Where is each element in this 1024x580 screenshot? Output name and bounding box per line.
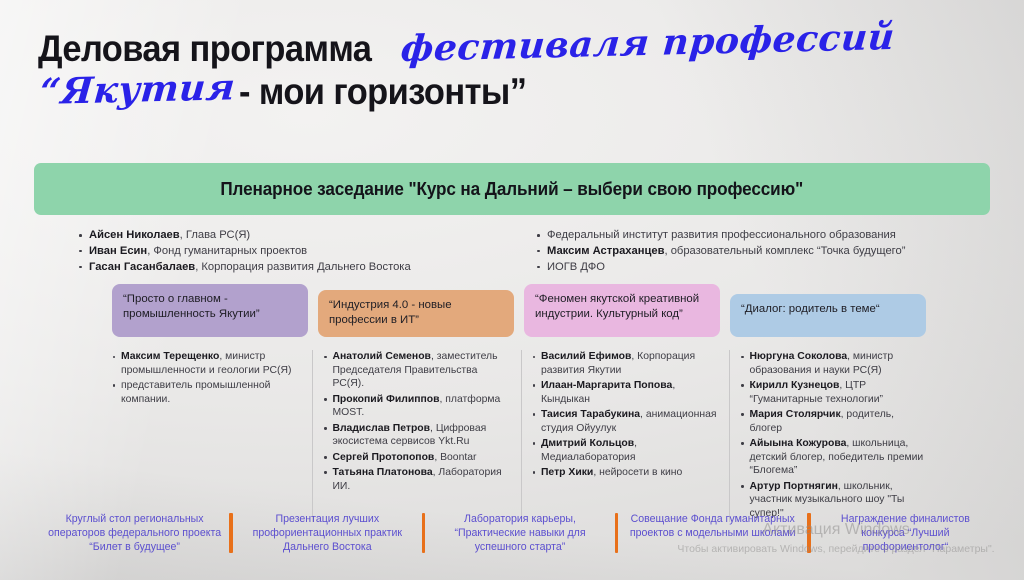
speaker-name: Татьяна Платонова (332, 467, 432, 478)
plenary-heading: Пленарное заседание "Курс на Дальний – в… (221, 179, 804, 200)
list-item: Владислав Петров, Цифровая экосистема се… (323, 422, 509, 449)
list-item: Иван Есин, Фонд гуманитарных проектов (78, 244, 508, 259)
section-box-parent-dialog: “Диалог: родитель в теме“ (730, 294, 926, 337)
section-headers: “Просто о главном - промышленность Якути… (112, 284, 930, 337)
list-item: Максим Терещенко, министр промышленности… (112, 350, 300, 377)
title-script-part-2: “Якутия (39, 69, 237, 110)
speaker-name: Илаан-Маргарита Попова (541, 380, 672, 391)
section-box-creative-industry: “Феномен якутской креативной индустрии. … (524, 284, 720, 337)
speaker-name: Василий Ефимов (541, 351, 631, 362)
speaker-name: Гасан Гасанбалаев (89, 261, 195, 273)
speaker-name: Максим Астраханцев (547, 245, 664, 257)
title-line-2: “Якутия - мои горизонты” (40, 73, 998, 110)
list-item: Прокопий Филиппов, платформа MOST. (323, 393, 509, 420)
speaker-column-3: Василий Ефимов, Корпорация развития Якут… (521, 350, 722, 522)
speaker-name: Артур Портнягин (749, 481, 837, 492)
speaker-name: Владислав Петров (332, 423, 430, 434)
list-item: Гасан Гасанбалаев, Корпорация развития Д… (78, 260, 508, 275)
section-box-industry-4-0: “Индустрия 4.0 - новые профессии в ИТ” (318, 290, 514, 337)
presentation-slide: Деловая программа фестиваля профессий “Я… (0, 0, 1024, 580)
speaker-name: Кирилл Кузнецов (749, 380, 839, 391)
section-box-industry-yakutia: “Просто о главном - промышленность Якути… (112, 284, 308, 337)
footer-item-presentation: Презентация лучших профориентационных пр… (233, 512, 422, 555)
list-item: Дмитрий Кольцов, Медиалаборатория (532, 437, 718, 464)
speaker-column-2: Анатолий Семенов, заместитель Председате… (312, 350, 513, 522)
speaker-role: , нейросети в кино (593, 467, 682, 478)
speaker-role: , Фонд гуманитарных проектов (147, 245, 307, 257)
speaker-name: Иван Есин (89, 245, 147, 257)
list-item: Максим Астраханцев, образовательный комп… (536, 244, 990, 259)
list-item: Федеральный институт развития профессион… (536, 228, 990, 243)
title-black-part-2: - мои горизонты” (239, 73, 526, 110)
list-item: Василий Ефимов, Корпорация развития Якут… (532, 350, 718, 377)
footer-item-award-ceremony: Награждение финалистов конкурса “Лучший … (811, 512, 1000, 555)
speaker-role: Федеральный институт развития профессион… (547, 229, 896, 241)
speaker-name: Айсен Николаев (89, 229, 180, 241)
speaker-role: представитель промышленной компании. (121, 380, 270, 405)
speaker-name: Таисия Тарабукина (541, 409, 640, 420)
footer-item-foundation-meeting: Совещание Фонда гуманитарных проектов с … (618, 512, 807, 540)
speaker-name: Максим Терещенко (121, 351, 219, 362)
speaker-name: Дмитрий Кольцов (541, 438, 634, 449)
footer-events: Круглый стол региональных операторов фед… (40, 512, 1000, 555)
speaker-role: , Boontar (434, 452, 476, 463)
speaker-role: , Глава РС(Я) (180, 229, 251, 241)
speaker-name: Петр Хики (541, 467, 593, 478)
speaker-role: ИОГВ ДФО (547, 261, 605, 273)
plenary-speakers: Айсен Николаев, Глава РС(Я) Иван Есин, Ф… (78, 228, 990, 276)
list-item: Анатолий Семенов, заместитель Председате… (323, 350, 509, 391)
list-item: Татьяна Платонова, Лаборатория ИИ. (323, 466, 509, 493)
list-item: Таисия Тарабукина, анимационная студия О… (532, 408, 718, 435)
plenary-banner: Пленарное заседание "Курс на Дальний – в… (34, 163, 990, 215)
footer-item-round-table: Круглый стол региональных операторов фед… (40, 512, 229, 555)
speaker-name: Сергей Протопопов (332, 452, 434, 463)
speaker-column-1: Максим Терещенко, министр промышленности… (112, 350, 304, 522)
speaker-name: Мария Столярчик (749, 409, 840, 420)
speaker-name: Айыына Кожурова (749, 438, 846, 449)
speaker-list-2: Анатолий Семенов, заместитель Председате… (323, 350, 509, 493)
list-item: Айсен Николаев, Глава РС(Я) (78, 228, 508, 243)
title-script-part-1: фестиваля профессий (399, 19, 896, 67)
speaker-list-1: Максим Терещенко, министр промышленности… (112, 350, 300, 406)
footer-item-career-lab: Лаборатория карьеры, “Практические навык… (425, 512, 614, 555)
speaker-role: , Корпорация развития Дальнего Востока (195, 261, 411, 273)
list-item: Кирилл Кузнецов, ЦТР “Гуманитарные техно… (740, 379, 926, 406)
speaker-name: Нюргуна Соколова (749, 351, 847, 362)
plenary-speakers-right: Федеральный институт развития профессион… (536, 228, 990, 276)
section-speaker-columns: Максим Терещенко, министр промышленности… (112, 350, 930, 522)
list-item: представитель промышленной компании. (112, 379, 300, 406)
speaker-list-3: Василий Ефимов, Корпорация развития Якут… (532, 350, 718, 480)
list-item: Нюргуна Соколова, министр образования и … (740, 350, 926, 377)
list-item: Илаан-Маргарита Попова, Кындыкан (532, 379, 718, 406)
list-item: Сергей Протопопов, Boontar (323, 451, 509, 465)
speaker-role: , образовательный комплекс “Точка будуще… (664, 245, 905, 257)
list-item: ИОГВ ДФО (536, 260, 990, 275)
list-item: Петр Хики, нейросети в кино (532, 466, 718, 480)
plenary-right-list: Федеральный институт развития профессион… (536, 228, 990, 275)
speaker-list-4: Нюргуна Соколова, министр образования и … (740, 350, 926, 521)
list-item: Айыына Кожурова, школьница, детский блог… (740, 437, 926, 478)
plenary-speakers-left: Айсен Николаев, Глава РС(Я) Иван Есин, Ф… (78, 228, 508, 276)
plenary-left-list: Айсен Николаев, Глава РС(Я) Иван Есин, Ф… (78, 228, 508, 275)
title-line-1: Деловая программа фестиваля профессий (38, 30, 998, 67)
speaker-column-4: Нюргуна Соколова, министр образования и … (729, 350, 930, 522)
list-item: Мария Столярчик, родитель, блогер (740, 408, 926, 435)
slide-title: Деловая программа фестиваля профессий “Я… (38, 30, 998, 110)
speaker-name: Прокопий Филиппов (332, 394, 439, 405)
speaker-name: Анатолий Семенов (332, 351, 430, 362)
title-black-part-1: Деловая программа (38, 30, 371, 67)
